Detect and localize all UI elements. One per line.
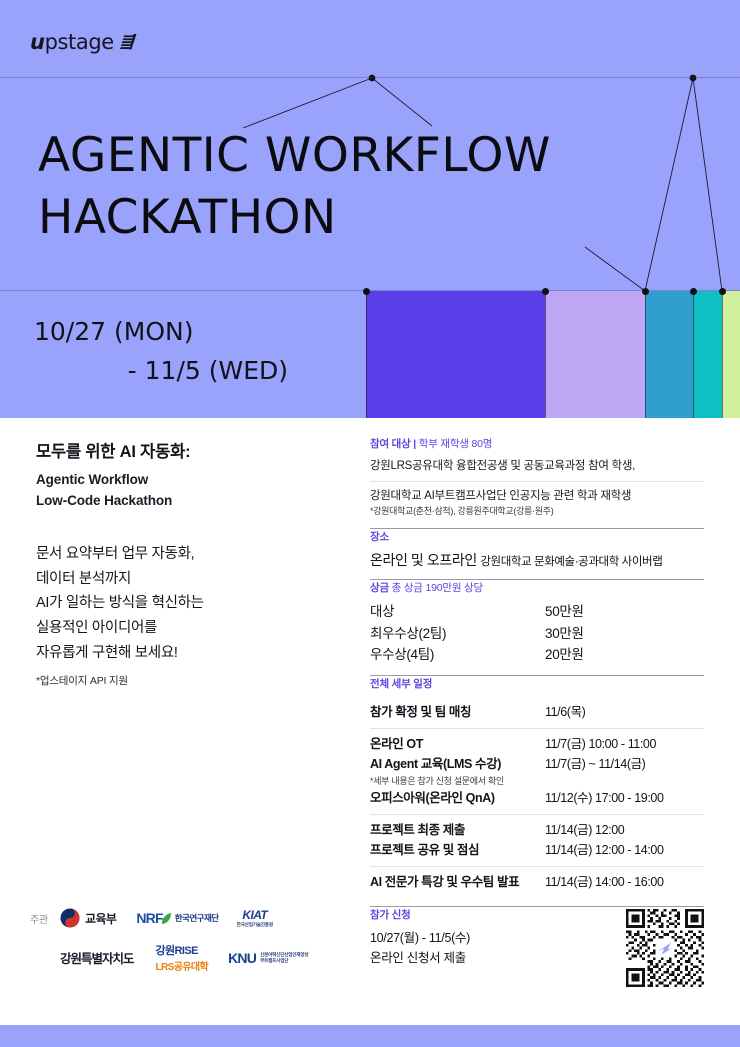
prize-label: 최우수상(2팀): [370, 623, 545, 645]
gangwon-rise-logo-text: 강원RISE: [156, 942, 198, 958]
gangwon-province-logo-text: 강원특별자치도: [60, 948, 134, 967]
schedule-group: 프로젝트 최종 제출 11/14(금) 12:00 프로젝트 공유 및 점심 1…: [370, 814, 704, 866]
sponsors-block: 주관 교육부 NRF 한국연구재단 KIAT: [30, 908, 350, 973]
node-dot: [690, 288, 697, 295]
content-area: 모두를 위한 AI 자동화: Agentic Workflow Low-Code…: [0, 418, 740, 1025]
schedule-row: 프로젝트 공유 및 점심 11/14(금) 12:00 - 14:00: [370, 840, 704, 861]
schedule-value: 11/6(목): [545, 702, 585, 723]
prize-value: 30만원: [545, 623, 584, 645]
hero-rule-top: [0, 77, 740, 78]
schedule-value: 11/14(금) 14:00 - 16:00: [545, 872, 664, 893]
target-line-2: 강원대학교 AI부트캠프사업단 인공지능 관련 학과 재학생: [370, 481, 704, 506]
target-line-1: 강원LRS공유대학 융합전공생 및 공동교육과정 참여 학생,: [370, 457, 704, 476]
nrf-logo-abbr: NRF: [136, 910, 162, 926]
section-apply: 참가 신청 10/27(월) - 11/5(수) 온라인 신청서 제출: [370, 907, 704, 977]
schedule-label: 참가 확정 및 팀 매칭: [370, 702, 545, 723]
hero-date-range: 10/27 (MON) - 11/5 (WED): [34, 313, 334, 391]
sponsors-row-2: 강원특별자치도 강원RISE LRS공유대학 KNU 신분야혁신단산업인재양성 …: [30, 942, 350, 973]
color-block-lime: [722, 291, 740, 418]
bottom-accent-bar: [0, 1025, 740, 1047]
color-block-cyan: [693, 291, 722, 418]
apply-qr-code[interactable]: [626, 909, 704, 987]
section-target-heading-reg: 학부 재학생 80명: [419, 438, 492, 450]
knu-logo-abbr: KNU: [228, 950, 256, 966]
lead-line-4: 실용적인 아이디어를: [36, 616, 336, 641]
nrf-logo-text: 한국연구재단: [175, 912, 219, 924]
schedule-value: 11/7(금) 10:00 - 11:00: [545, 734, 656, 755]
tagline-korean: 모두를 위한 AI 자동화:: [36, 440, 336, 465]
target-fine-print: *강원대학교(춘천·삼척), 강릉원주대학교(강릉·원주): [370, 505, 704, 519]
place-detail: 강원대학교 문화예술·공과대학 사이버랩: [480, 556, 662, 568]
section-prize: 상금 총 상금 190만원 상당 대상 50만원 최우수상(2팀) 30만원 우…: [370, 580, 704, 676]
color-block-sep-5: [722, 291, 723, 418]
gangwon-rise-logo-sub: LRS공유대학: [156, 958, 209, 973]
prize-row: 우수상(4팀) 20만원: [370, 644, 704, 666]
lead-paragraph: 문서 요약부터 업무 자동화, 데이터 분석까지 AI가 일하는 방식을 혁신하…: [36, 542, 336, 667]
prize-value: 20만원: [545, 644, 584, 666]
subtitle-english-line1: Agentic Workflow: [36, 470, 336, 491]
schedule-label: 온라인 OT: [370, 734, 545, 755]
node-dot: [363, 288, 370, 295]
section-schedule-heading: 전체 세부 일정: [370, 676, 704, 691]
api-support-note: *업스테이지 API 지원: [36, 673, 336, 688]
poster-root: upstage AGENTIC WORKFLOW HACKATHON 10/27…: [0, 0, 740, 1047]
schedule-row: 오피스아워(온라인 QnA) 11/12(수) 17:00 - 19:00: [370, 788, 704, 809]
prize-label: 대상: [370, 601, 545, 623]
hero-title-line2: HACKATHON: [38, 187, 678, 249]
upstage-logo[interactable]: upstage: [30, 28, 138, 56]
subtitle-english-line2: Low-Code Hackathon: [36, 491, 336, 512]
gangwon-rise-logo: 강원RISE LRS공유대학: [156, 942, 209, 973]
prize-row: 최우수상(2팀) 30만원: [370, 623, 704, 645]
section-schedule: 전체 세부 일정 참가 확정 및 팀 매칭 11/6(목) 온라인 OT 11/…: [370, 676, 704, 906]
color-block-lavender: [545, 291, 645, 418]
schedule-value: 11/14(금) 12:00: [545, 820, 624, 841]
schedule-group: 참가 확정 및 팀 매칭 11/6(목): [370, 697, 704, 728]
schedule-value: 11/7(금) ~ 11/14(금): [545, 754, 645, 775]
schedule-label: 프로젝트 최종 제출: [370, 820, 545, 841]
schedule-row: 참가 확정 및 팀 매칭 11/6(목): [370, 702, 704, 723]
moe-logo-text: 교육부: [85, 910, 116, 927]
schedule-label: AI 전문가 특강 및 우수팀 발표: [370, 872, 545, 893]
section-prize-heading-reg: 총 상금 190만원 상당: [392, 582, 483, 594]
knu-logo-text: 신분야혁신단산업인재양성 부트캠프사업단: [260, 952, 310, 963]
sponsors-row-1: 주관 교육부 NRF 한국연구재단 KIAT: [30, 908, 350, 928]
color-block-indigo: [366, 291, 545, 418]
sponsors-label: 주관: [30, 911, 48, 926]
lead-line-3: AI가 일하는 방식을 혁신하는: [36, 591, 336, 616]
nrf-leaf-icon: [161, 912, 172, 925]
lead-line-1: 문서 요약부터 업무 자동화,: [36, 542, 336, 567]
lead-line-2: 데이터 분석까지: [36, 567, 336, 592]
lead-line-5: 자유롭게 구현해 보세요!: [36, 641, 336, 666]
hero-date-start: 10/27 (MON): [34, 317, 193, 346]
prize-label: 우수상(4팀): [370, 644, 545, 666]
color-block-sep-3: [645, 291, 646, 418]
schedule-label: 오피스아워(온라인 QnA): [370, 788, 545, 809]
section-prize-heading-bold: 상금: [370, 582, 389, 594]
place-mode: 온라인 및 오프라인: [370, 552, 477, 568]
schedule-fine-print: *세부 내용은 참가 신청 설문에서 확인: [370, 775, 704, 789]
section-target: 참여 대상 | 학부 재학생 80명 강원LRS공유대학 융합전공생 및 공동교…: [370, 436, 704, 528]
nrf-logo: NRF 한국연구재단: [136, 910, 218, 926]
schedule-row: AI 전문가 특강 및 우수팀 발표 11/14(금) 14:00 - 16:0…: [370, 872, 704, 893]
hero-title-line1: AGENTIC WORKFLOW: [38, 128, 551, 183]
schedule-row: 온라인 OT 11/7(금) 10:00 - 11:00: [370, 734, 704, 755]
node-dot: [542, 288, 549, 295]
color-block-sep-1: [366, 291, 367, 418]
section-target-heading-bold: 참여 대상: [370, 438, 411, 450]
right-column: 참여 대상 | 학부 재학생 80명 강원LRS공유대학 융합전공생 및 공동교…: [370, 436, 704, 977]
moe-logo: 교육부: [60, 908, 116, 928]
upstage-wordmark: upstage: [30, 32, 114, 53]
schedule-label: 프로젝트 공유 및 점심: [370, 840, 545, 861]
upstage-bars-icon: [119, 33, 138, 52]
section-target-heading-sep: |: [411, 438, 419, 450]
section-place-heading: 장소: [370, 529, 704, 544]
gangwon-province-logo: 강원특별자치도: [60, 948, 134, 967]
upstage-wordmark-rest: pstage: [45, 30, 114, 54]
hero-date-end: - 11/5 (WED): [34, 352, 334, 391]
schedule-value: 11/14(금) 12:00 - 14:00: [545, 840, 664, 861]
section-place: 장소 온라인 및 오프라인 강원대학교 문화예술·공과대학 사이버랩: [370, 529, 704, 579]
color-block-steel-blue: [645, 291, 693, 418]
kiat-logo: KIAT 한국산업기술진흥원: [237, 908, 273, 928]
prize-row: 대상 50만원: [370, 601, 704, 623]
kiat-logo-abbr: KIAT: [242, 908, 267, 922]
subtitle-english: Agentic Workflow Low-Code Hackathon: [36, 470, 336, 512]
node-dot: [642, 288, 649, 295]
schedule-row: AI Agent 교육(LMS 수강) 11/7(금) ~ 11/14(금): [370, 754, 704, 775]
prize-value: 50만원: [545, 601, 584, 623]
schedule-group: 온라인 OT 11/7(금) 10:00 - 11:00 AI Agent 교육…: [370, 728, 704, 814]
left-column: 모두를 위한 AI 자동화: Agentic Workflow Low-Code…: [36, 440, 336, 688]
node-dot: [719, 288, 726, 295]
schedule-value: 11/12(수) 17:00 - 19:00: [545, 788, 664, 809]
color-block-sep-2: [545, 291, 546, 418]
upstage-wordmark-u: u: [30, 30, 45, 54]
place-value: 온라인 및 오프라인 강원대학교 문화예술·공과대학 사이버랩: [370, 550, 704, 570]
schedule-group: AI 전문가 특강 및 우수팀 발표 11/14(금) 14:00 - 16:0…: [370, 866, 704, 898]
section-target-heading: 참여 대상 | 학부 재학생 80명: [370, 436, 704, 451]
hero-title: AGENTIC WORKFLOW HACKATHON: [38, 125, 678, 249]
knu-logo: KNU 신분야혁신단산업인재양성 부트캠프사업단: [228, 950, 310, 966]
kiat-logo-text: 한국산업기술진흥원: [237, 922, 273, 928]
hero-banner: upstage AGENTIC WORKFLOW HACKATHON 10/27…: [0, 0, 740, 418]
schedule-label: AI Agent 교육(LMS 수강): [370, 754, 545, 775]
schedule-row: 프로젝트 최종 제출 11/14(금) 12:00: [370, 820, 704, 841]
color-block-sep-4: [693, 291, 694, 418]
section-prize-heading: 상금 총 상금 190만원 상당: [370, 580, 704, 595]
taegeuk-icon: [60, 908, 80, 928]
